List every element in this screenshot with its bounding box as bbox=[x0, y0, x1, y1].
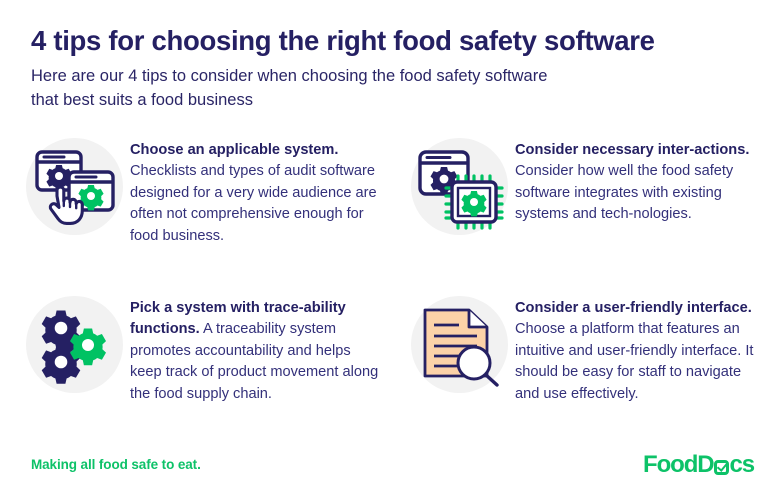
icon-background-circle bbox=[26, 138, 123, 235]
tip-text: Consider a user-friendly interface. Choo… bbox=[515, 290, 770, 405]
interlocking-gears-icon bbox=[36, 307, 112, 383]
tip-icon-container bbox=[18, 290, 130, 410]
tip-item: Choose an applicable system. Checklists … bbox=[18, 132, 385, 284]
tip-body: Consider how well the food safety softwa… bbox=[515, 163, 733, 222]
tip-heading: Consider a user-friendly interface. bbox=[515, 300, 752, 316]
footer: Making all food safe to eat. Food D cs bbox=[0, 439, 784, 493]
tip-icon-container bbox=[18, 132, 130, 252]
tip-item: Consider a user-friendly interface. Choo… bbox=[403, 290, 770, 442]
tip-body: Checklists and types of audit software d… bbox=[130, 163, 377, 243]
fooddocs-logo: Food D cs bbox=[643, 451, 754, 479]
logo-text-food: Food bbox=[643, 451, 697, 479]
tip-icon-container bbox=[403, 290, 515, 410]
tip-text: Consider necessary inter-actions. Consid… bbox=[515, 132, 770, 226]
document-magnifier-icon bbox=[419, 305, 499, 385]
tip-text: Pick a system with trace-ability functio… bbox=[130, 290, 385, 405]
tip-body: Choose a platform that features an intui… bbox=[515, 321, 753, 401]
window-gear-microchip-icon bbox=[416, 144, 502, 230]
tip-text: Choose an applicable system. Checklists … bbox=[130, 132, 385, 247]
header: 4 tips for choosing the right food safet… bbox=[31, 26, 751, 112]
tip-heading: Consider necessary inter-actions. bbox=[515, 142, 749, 158]
infographic-page: 4 tips for choosing the right food safet… bbox=[0, 0, 784, 493]
footer-tagline: Making all food safe to eat. bbox=[31, 457, 201, 472]
windows-gears-cursor-icon bbox=[31, 144, 117, 230]
icon-background-circle bbox=[26, 296, 123, 393]
tip-icon-container bbox=[403, 132, 515, 252]
tip-item: Pick a system with trace-ability functio… bbox=[18, 290, 385, 442]
page-title: 4 tips for choosing the right food safet… bbox=[31, 26, 751, 56]
checkbox-icon bbox=[714, 460, 729, 475]
icon-background-circle bbox=[411, 296, 508, 393]
tips-grid: Choose an applicable system. Checklists … bbox=[0, 132, 784, 442]
logo-text-cs: cs bbox=[730, 451, 755, 479]
tip-heading: Choose an applicable system. bbox=[130, 142, 338, 158]
icon-background-circle bbox=[411, 138, 508, 235]
page-subtitle: Here are our 4 tips to consider when cho… bbox=[31, 65, 571, 112]
logo-text-d: D bbox=[697, 451, 713, 479]
tip-item: Consider necessary inter-actions. Consid… bbox=[403, 132, 770, 284]
